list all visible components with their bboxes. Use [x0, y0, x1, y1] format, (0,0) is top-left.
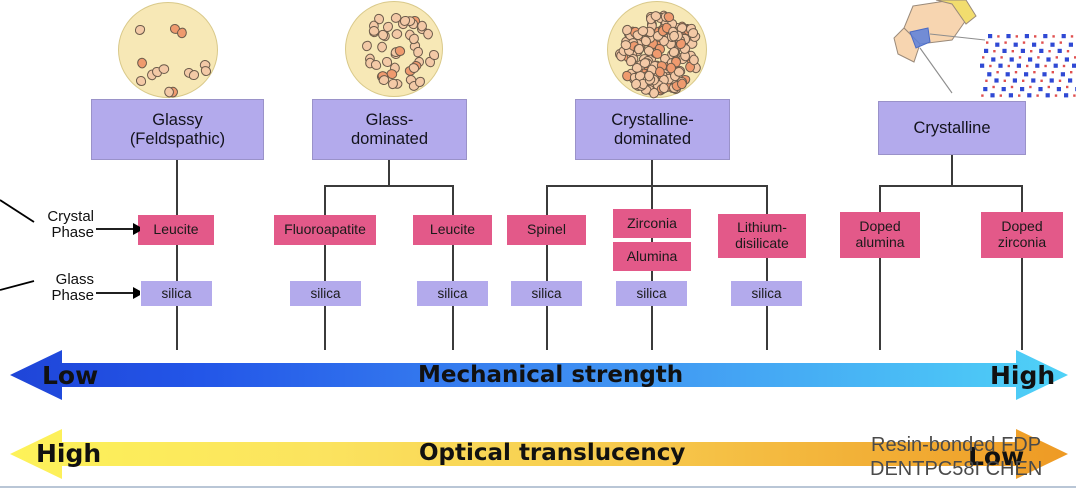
- category-box-glass-dominated[interactable]: Glass- dominated: [312, 99, 467, 160]
- crystal-label: Leucite: [430, 222, 475, 238]
- glass-box-silica-2[interactable]: silica: [290, 281, 361, 306]
- glass-label: silica: [437, 286, 467, 301]
- glass-label: silica: [531, 286, 561, 301]
- micrograph-glassy: [118, 2, 218, 98]
- scale-title-optical: Optical translucency: [419, 440, 685, 466]
- category-box-crystalline-dominated[interactable]: Crystalline- dominated: [575, 99, 730, 160]
- glass-box-silica-4[interactable]: silica: [511, 281, 582, 306]
- crystal-label: Lithium- disilicate: [735, 220, 789, 251]
- crystal-box-fluoroapatite[interactable]: Fluoroapatite: [274, 215, 376, 245]
- connector-glass-dominated-bar: [324, 185, 454, 187]
- connector-crystalline-branch-1: [879, 185, 881, 215]
- category-box-crystalline[interactable]: Crystalline: [878, 101, 1026, 155]
- category-label-glassy: Glassy (Feldspathic): [130, 111, 225, 148]
- crystal-box-doped-alumina[interactable]: Doped alumina: [840, 212, 920, 258]
- micrograph-crystalline-dominated: [607, 1, 707, 98]
- connector-crystalline-dominated-branch-1: [546, 185, 548, 215]
- scale-left-label-mechanical: Low: [42, 361, 98, 390]
- connector-glass-dominated-stem: [388, 160, 390, 185]
- crystal-lattice-illustration: [880, 0, 1076, 98]
- crystal-box-leucite-1[interactable]: Leucite: [138, 215, 214, 245]
- crystal-label: Doped zirconia: [998, 219, 1046, 250]
- connector-glass-dominated-branch-1: [324, 185, 326, 215]
- glass-box-silica-1[interactable]: silica: [141, 281, 212, 306]
- overlay-resin-bonded-fdp: Resin-bonded FDP: [871, 434, 1041, 457]
- connector-glass-dominated-branch-2: [452, 185, 454, 215]
- overlay-course-code: DENTPC58I CHEN: [870, 458, 1042, 481]
- ceramic-classification-figure: Glassy (Feldspathic) Glass- dominated Cr…: [0, 0, 1076, 494]
- crystal-box-alumina[interactable]: Alumina: [613, 242, 691, 271]
- connector-crystalline-branch-2: [1021, 185, 1023, 215]
- glass-box-silica-6[interactable]: silica: [731, 281, 802, 306]
- connector-crystalline-stem: [951, 155, 953, 185]
- crystal-box-leucite-2[interactable]: Leucite: [413, 215, 492, 245]
- crystal-label: Fluoroapatite: [284, 222, 366, 238]
- glass-label: silica: [161, 286, 191, 301]
- connector-glassy-stem: [176, 160, 178, 215]
- crystal-box-zirconia[interactable]: Zirconia: [613, 209, 691, 238]
- category-label-glass-dominated: Glass- dominated: [351, 111, 428, 148]
- category-box-glassy[interactable]: Glassy (Feldspathic): [91, 99, 264, 160]
- micrograph-glass-dominated: [345, 1, 443, 97]
- annotation-leader-lines: [0, 195, 140, 315]
- crystal-box-spinel[interactable]: Spinel: [507, 215, 586, 245]
- scale-left-label-optical: High: [36, 439, 101, 468]
- connector-crystalline-bar: [879, 185, 1023, 187]
- crystal-box-doped-zirconia[interactable]: Doped zirconia: [981, 212, 1063, 258]
- crystal-label: Doped alumina: [855, 219, 904, 250]
- crystal-box-lithium-disilicate[interactable]: Lithium- disilicate: [718, 214, 806, 258]
- crystal-label: Leucite: [153, 222, 198, 238]
- glass-label: silica: [310, 286, 340, 301]
- glass-label: silica: [751, 286, 781, 301]
- crystal-label: Spinel: [527, 222, 566, 238]
- bottom-rule: [0, 486, 1076, 488]
- category-label-crystalline: Crystalline: [913, 119, 990, 137]
- connector-crystalline-dominated-branch-3: [766, 185, 768, 215]
- category-label-crystalline-dominated: Crystalline- dominated: [611, 111, 694, 148]
- crystal-label: Zirconia: [627, 216, 677, 232]
- glass-box-silica-3[interactable]: silica: [417, 281, 488, 306]
- crystal-label: Alumina: [627, 249, 678, 265]
- scale-title-mechanical: Mechanical strength: [418, 362, 683, 388]
- scale-right-label-mechanical: High: [990, 361, 1055, 390]
- connector-crystalline-dominated-stem: [651, 160, 653, 185]
- connector-crystalline-dominated-bar: [546, 185, 768, 187]
- glass-label: silica: [636, 286, 666, 301]
- glass-box-silica-5[interactable]: silica: [616, 281, 687, 306]
